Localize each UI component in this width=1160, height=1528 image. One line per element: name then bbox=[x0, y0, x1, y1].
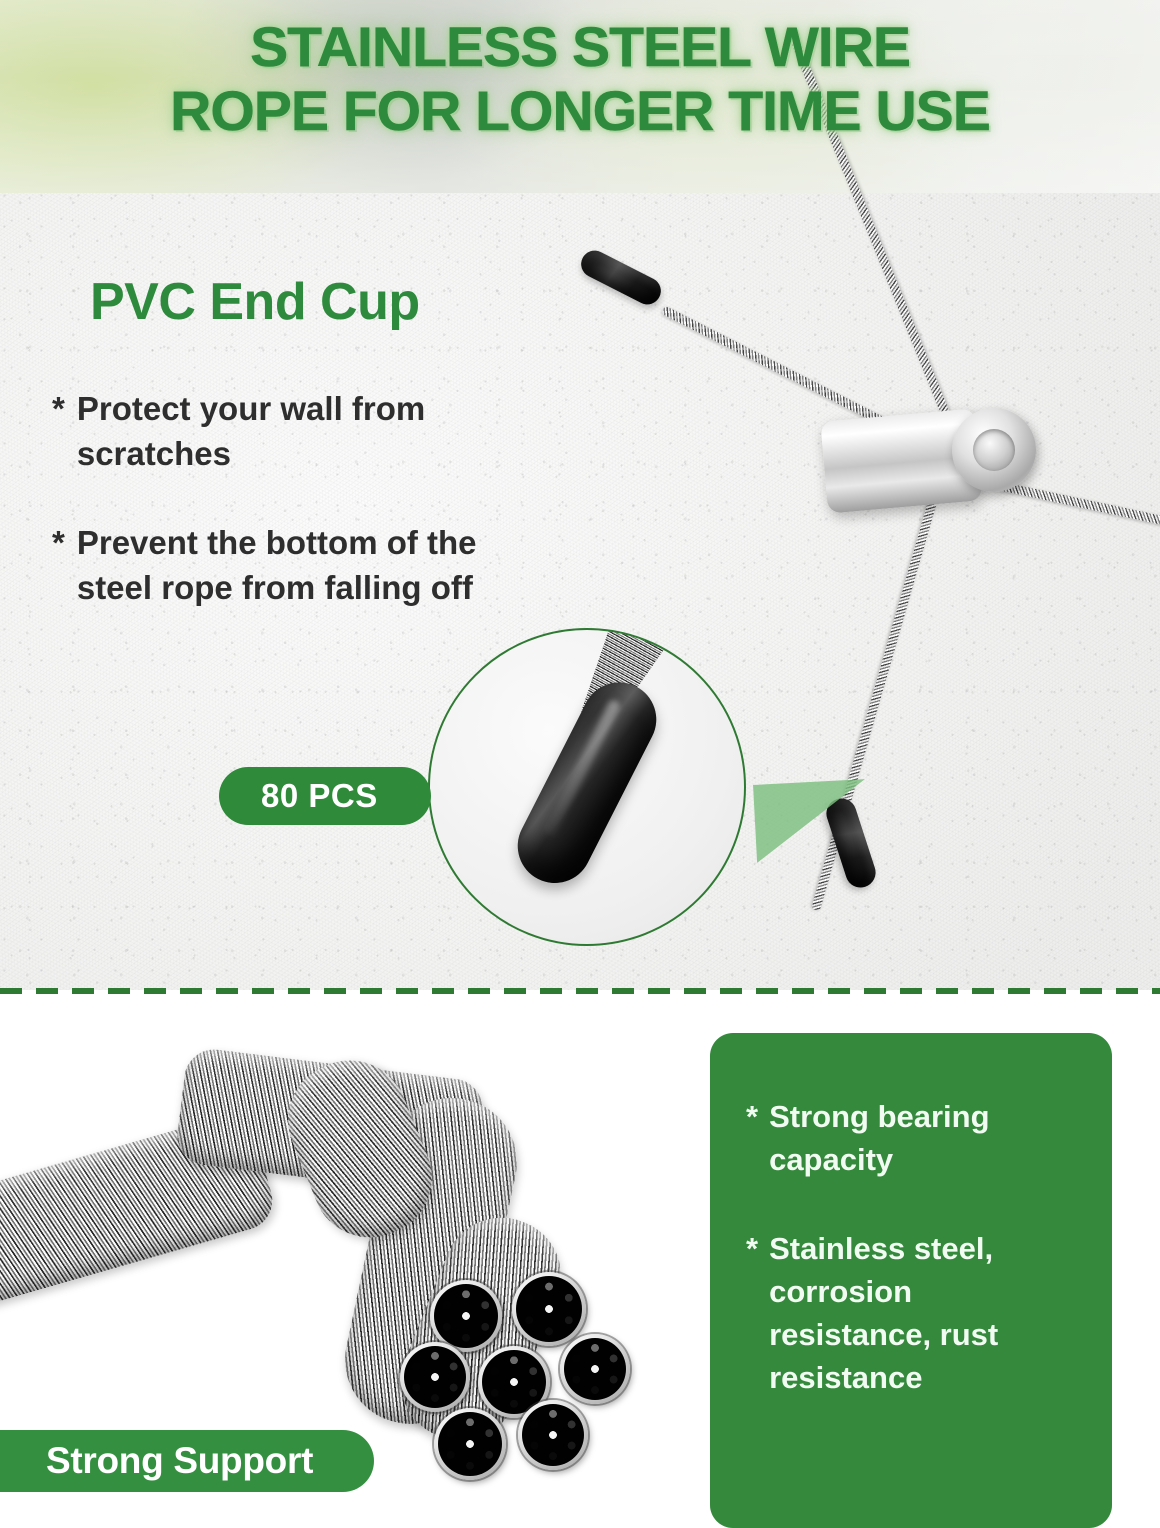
strand-cross-section bbox=[560, 1334, 630, 1404]
bullet-star-icon: * bbox=[52, 520, 65, 610]
strand-cross-section bbox=[518, 1400, 588, 1470]
pvc-benefit-list: * Protect your wall from scratches * Pre… bbox=[52, 386, 552, 610]
banner-title: STAINLESS STEEL WIRE ROPE FOR LONGER TIM… bbox=[0, 0, 1160, 143]
list-item: * Stainless steel, corrosion resistance,… bbox=[746, 1227, 1078, 1399]
strong-support-badge-label: Strong Support bbox=[46, 1440, 313, 1482]
strand-cross-section bbox=[430, 1280, 502, 1352]
bullet-star-icon: * bbox=[52, 386, 65, 476]
pvc-end-cap-closeup bbox=[505, 670, 669, 896]
list-item-label: Prevent the bottom of the steel rope fro… bbox=[77, 520, 552, 610]
magnifier-pointer bbox=[753, 779, 869, 863]
hex-socket-icon bbox=[982, 438, 1007, 463]
strand-cross-section bbox=[512, 1272, 586, 1346]
strand-cross-section bbox=[400, 1342, 470, 1412]
header-banner: STAINLESS STEEL WIRE ROPE FOR LONGER TIM… bbox=[0, 0, 1160, 193]
strand-cross-section bbox=[434, 1408, 506, 1480]
wire-rope-illustration bbox=[0, 1004, 670, 1474]
cross-clamp-head bbox=[952, 408, 1036, 492]
rope-cross-section-cluster bbox=[400, 1272, 640, 1484]
magnifier-circle bbox=[428, 628, 746, 946]
list-item-label: Stainless steel, corrosion resistance, r… bbox=[769, 1227, 1078, 1399]
bullet-star-icon: * bbox=[746, 1227, 758, 1399]
list-item: * Strong bearing capacity bbox=[746, 1095, 1078, 1181]
list-item: * Protect your wall from scratches bbox=[52, 386, 552, 476]
quantity-badge: 80 PCS bbox=[219, 767, 431, 825]
feature-info-box: * Strong bearing capacity * Stainless st… bbox=[710, 1033, 1112, 1528]
bullet-star-icon: * bbox=[746, 1095, 758, 1181]
list-item-label: Strong bearing capacity bbox=[769, 1095, 1078, 1181]
pvc-end-cup-heading: PVC End Cup bbox=[90, 272, 420, 332]
list-item-label: Protect your wall from scratches bbox=[77, 386, 552, 476]
strong-support-badge: Strong Support bbox=[0, 1430, 374, 1492]
quantity-badge-label: 80 PCS bbox=[261, 777, 378, 815]
list-item: * Prevent the bottom of the steel rope f… bbox=[52, 520, 552, 610]
